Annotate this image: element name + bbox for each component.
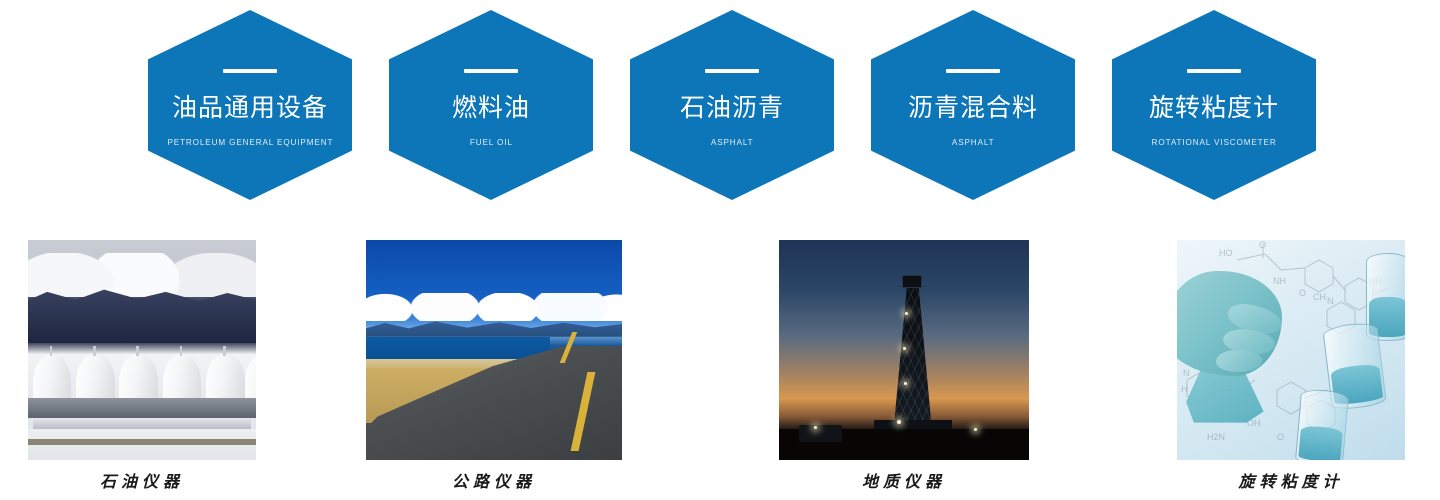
gallery-caption: 地质仪器 [779, 468, 1029, 492]
highway-lake-mountains-photo [366, 240, 622, 460]
svg-text:N: N [1183, 368, 1190, 378]
oil-drilling-rig-dusk-photo [779, 240, 1029, 460]
gallery-caption: 旋转粘度计 [1177, 468, 1405, 492]
svg-text:CH: CH [1313, 292, 1326, 302]
laboratory-flask-chemistry-photo: HO NH NH HO O O CH N N H H2N O NH OH [1177, 240, 1405, 460]
svg-text:NH: NH [1273, 276, 1286, 286]
gallery-item-petroleum-instruments[interactable]: 石油仪器 [28, 240, 256, 460]
svg-text:O: O [1277, 432, 1284, 442]
gallery-item-rotational-viscometer[interactable]: HO NH NH HO O O CH N N H H2N O NH OH [1177, 240, 1405, 460]
gallery-item-highway-instruments[interactable]: 公路仪器 [366, 240, 622, 460]
svg-text:O: O [1299, 288, 1306, 298]
svg-text:H: H [1181, 384, 1188, 394]
svg-text:HO: HO [1219, 248, 1233, 258]
gallery-caption: 石油仪器 [28, 468, 256, 492]
svg-text:N: N [1327, 296, 1334, 306]
svg-text:H2N: H2N [1207, 432, 1225, 442]
gallery-caption: 公路仪器 [366, 468, 622, 492]
photo-gallery-row: 石油仪器 公路仪器 地质仪器 [0, 0, 1440, 500]
gallery-item-geological-instruments[interactable]: 地质仪器 [779, 240, 1029, 460]
test-tube-icon [1295, 388, 1349, 460]
svg-text:O: O [1259, 240, 1266, 250]
snowy-mountain-storage-tanks-photo [28, 240, 256, 460]
